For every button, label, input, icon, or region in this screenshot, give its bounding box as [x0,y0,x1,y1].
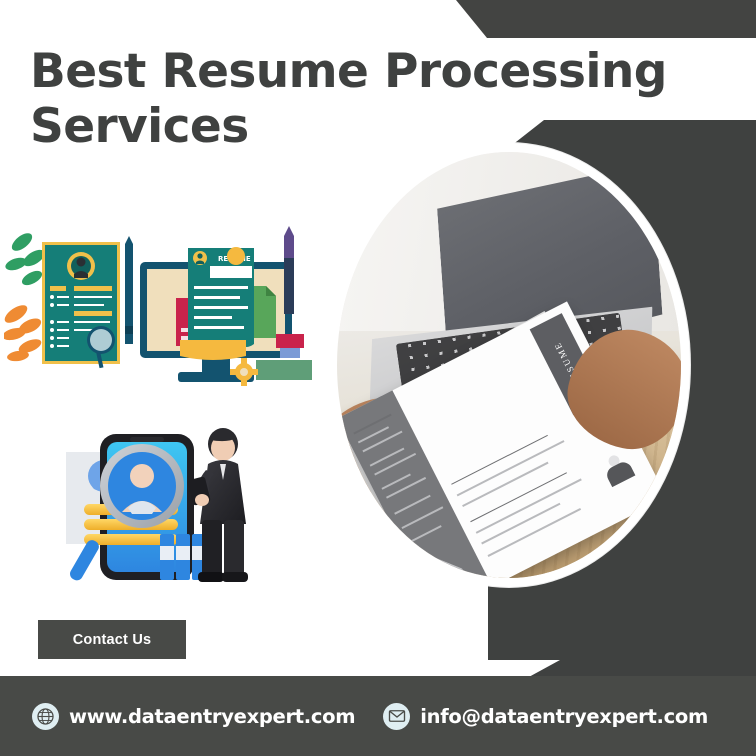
3d-candidate-search-illustration [56,420,271,595]
resume-line [451,435,548,485]
footer-bar: www.dataentryexpert.com info@dataentryex… [0,676,756,756]
resume-portrait [598,449,637,488]
trouser-right [224,520,244,578]
contact-us-button[interactable]: Contact Us [38,620,186,659]
footer-email[interactable]: info@dataentryexpert.com [383,703,708,730]
block-blue [280,348,300,358]
avatar-head [130,464,154,488]
resume-line [476,478,582,533]
leaf-green-icon [4,230,47,288]
hero-photo: RESUME [328,143,690,587]
block-crimson [276,334,304,348]
avatar-head [77,258,86,267]
envelope-icon [383,703,410,730]
title-line-1: Best Resume Processing [30,44,667,99]
leaf-orange-icon [4,302,43,363]
monitor-neck [202,358,230,374]
trouser-left [202,520,222,578]
footer-website[interactable]: www.dataentryexpert.com [32,703,355,730]
footer-website-text: www.dataentryexpert.com [69,705,355,728]
poster-canvas: Best Resume Processing Services RESUME [0,0,756,756]
hero-photo-image: RESUME [337,152,681,578]
pencil-blue-icon [125,236,133,344]
pencil-purple-icon [284,226,294,314]
resume-line [457,440,565,496]
decor-top-wedge [440,0,756,38]
binder-stack [160,534,206,580]
hand [195,494,209,506]
flat-resume-illustration: RESUME [4,214,334,399]
title-line-2: Services [30,99,730,154]
page-title: Best Resume Processing Services [30,44,730,155]
globe-icon [32,703,59,730]
block-green [256,360,312,380]
footer-email-text: info@dataentryexpert.com [420,705,708,728]
tray-yellow [180,340,246,360]
